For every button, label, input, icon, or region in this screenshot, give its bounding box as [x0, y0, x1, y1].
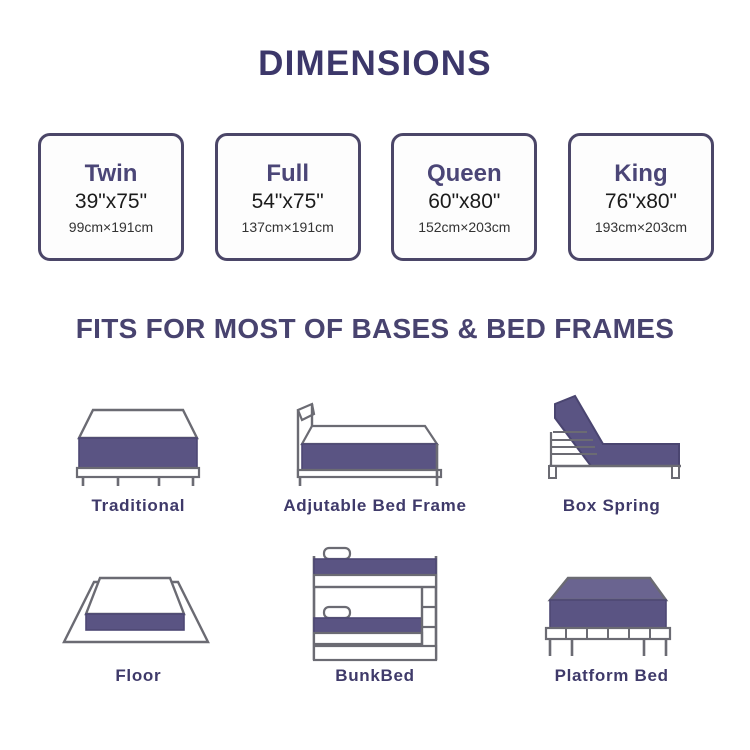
base-item-bunkbed[interactable]: BunkBed	[257, 548, 494, 718]
size-name: Full	[266, 161, 309, 186]
dimension-card-twin[interactable]: Twin 39"x75" 99cm×191cm	[38, 133, 184, 261]
size-name: Twin	[85, 161, 138, 186]
size-inches: 76"x80"	[605, 191, 677, 213]
size-metric: 137cm×191cm	[242, 220, 334, 235]
size-inches: 39"x75"	[75, 191, 147, 213]
base-label: Platform Bed	[555, 666, 669, 686]
bed-base-grid: Traditional	[20, 378, 730, 718]
base-label: Traditional	[92, 496, 186, 516]
dimension-card-list: Twin 39"x75" 99cm×191cm Full 54"x75" 137…	[38, 133, 714, 263]
box-spring-icon	[507, 378, 717, 496]
dimension-card-full[interactable]: Full 54"x75" 137cm×191cm	[215, 133, 361, 261]
base-item-floor[interactable]: Floor	[20, 548, 257, 718]
platform-bed-icon	[507, 548, 717, 666]
page-title: DIMENSIONS	[0, 44, 750, 84]
adjustable-bed-frame-icon	[270, 378, 480, 496]
size-inches: 60"x80"	[428, 191, 500, 213]
dimension-card-queen[interactable]: Queen 60"x80" 152cm×203cm	[391, 133, 537, 261]
base-label: BunkBed	[335, 666, 415, 686]
base-item-platform-bed[interactable]: Platform Bed	[493, 548, 730, 718]
size-metric: 193cm×203cm	[595, 220, 687, 235]
section-subtitle: FITS FOR MOST OF BASES & BED FRAMES	[0, 313, 750, 345]
base-item-box-spring[interactable]: Box Spring	[493, 378, 730, 548]
size-metric: 152cm×203cm	[418, 220, 510, 235]
traditional-bed-icon	[33, 378, 243, 496]
base-item-traditional[interactable]: Traditional	[20, 378, 257, 548]
dimension-card-king[interactable]: King 76"x80" 193cm×203cm	[568, 133, 714, 261]
floor-icon	[33, 548, 243, 666]
base-label: Floor	[115, 666, 161, 686]
size-name: King	[614, 161, 667, 186]
size-inches: 54"x75"	[252, 191, 324, 213]
size-name: Queen	[427, 161, 502, 186]
size-metric: 99cm×191cm	[69, 220, 153, 235]
bunkbed-icon	[270, 548, 480, 666]
base-label: Box Spring	[563, 496, 661, 516]
base-item-adjustable-bed-frame[interactable]: Adjutable Bed Frame	[257, 378, 494, 548]
base-label: Adjutable Bed Frame	[283, 496, 466, 516]
infographic-page: DIMENSIONS Twin 39"x75" 99cm×191cm Full …	[0, 0, 750, 750]
